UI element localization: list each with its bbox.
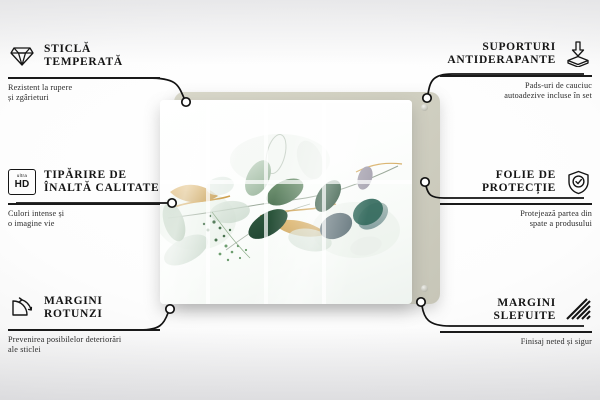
eucalyptus-artwork [160,100,412,304]
feature-divider [440,331,592,333]
product-image [160,92,440,310]
feature-title-line2: TEMPERATĂ [44,56,123,69]
corner-pad-icon [421,285,428,292]
ultra-hd-icon: ultra HD [8,168,36,196]
feature-desc-line1: Rezistent la rupere [8,83,160,93]
feature-desc-line2: și zgârieturi [8,93,160,103]
feature-desc-line1: Prevenirea posibilelor deteriorări [8,335,160,345]
feature-desc-line2: ale sticlei [8,345,160,355]
feature-title-line1: MARGINI [44,295,103,308]
feature-divider [8,329,160,331]
feature-title-line2: ÎNALTĂ CALITATE [44,182,159,195]
anti-slip-pad-icon [564,40,592,68]
infographic-canvas: STICLĂ TEMPERATĂ Rezistent la rupere și … [0,0,600,400]
feature-title-line1: SUPORTURI [447,41,556,54]
feature-divider [8,203,160,205]
feature-desc-line2: spate a produsului [440,219,592,229]
feature-title-line1: FOLIE DE [482,169,556,182]
corner-pad-icon [421,104,428,111]
feature-tempered-glass: STICLĂ TEMPERATĂ Rezistent la rupere și … [8,38,160,103]
feature-desc-line1: Culori intense și [8,209,160,219]
polished-edge-hatch-icon [564,296,592,324]
product-glass-surface [160,100,412,304]
feature-title-line2: ROTUNZI [44,308,103,321]
hd-icon-main-text: HD [15,180,30,190]
feature-title-line2: PROTECȚIE [482,182,556,195]
feature-desc-line2: autoadezive incluse în set [440,91,592,101]
feature-divider [8,77,160,79]
feature-title-line1: MARGINI [494,297,556,310]
feature-title-line2: ANTIDERAPANTE [447,54,556,67]
feature-title-line1: STICLĂ [44,43,123,56]
feature-hd-printing: ultra HD TIPĂRIRE DE ÎNALTĂ CALITATE Cul… [8,164,160,229]
feature-desc-line1: Pads-uri de cauciuc [440,81,592,91]
feature-desc-line1: Finisaj neted și sigur [440,337,592,347]
feature-desc-line2: o imagine vie [8,219,160,229]
feature-protective-film: FOLIE DE PROTECȚIE Protejează partea din… [440,164,592,229]
feature-anti-slip-supports: SUPORTURI ANTIDERAPANTE Pads-uri de cauc… [440,36,592,101]
diamond-icon [8,42,36,70]
feature-divider [440,75,592,77]
feature-title-line1: TIPĂRIRE DE [44,169,159,182]
shield-check-icon [564,168,592,196]
feature-divider [440,203,592,205]
feature-title-line2: SLEFUITE [494,310,556,323]
feature-polished-edges: MARGINI SLEFUITE Finisaj neted și sigur [440,292,592,347]
feature-rounded-edges: MARGINI ROTUNZI Prevenirea posibilelor d… [8,290,160,355]
feature-desc-line1: Protejează partea din [440,209,592,219]
rounded-corner-icon [8,294,36,322]
